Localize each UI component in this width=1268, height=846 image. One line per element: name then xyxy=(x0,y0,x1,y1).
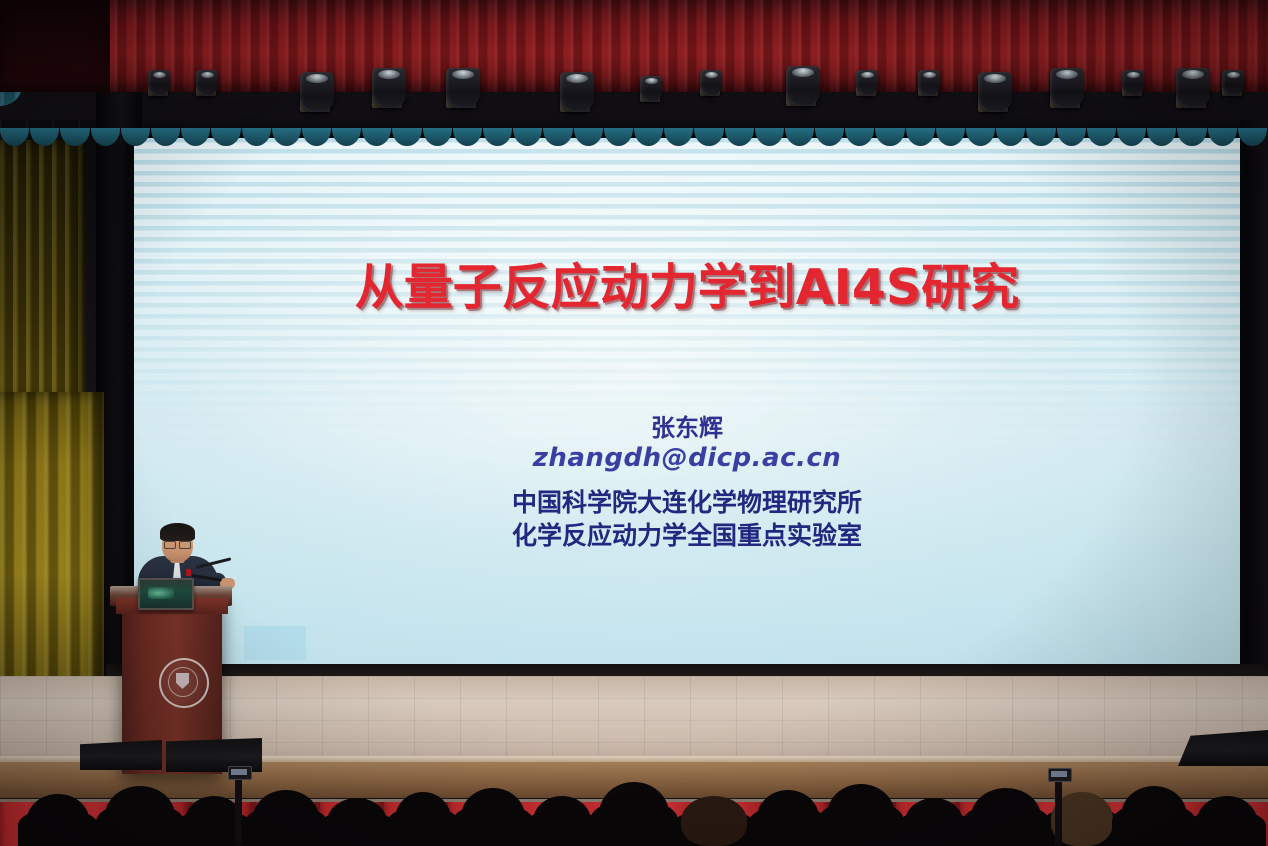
slide-organization-line-1: 中国科学院大连化学物理研究所 xyxy=(134,483,1240,519)
light-lens-icon xyxy=(861,72,874,78)
audience-area xyxy=(0,768,1268,846)
light-lens-icon xyxy=(566,74,588,83)
smartphone-recording xyxy=(1048,768,1072,782)
stage-light-fixture xyxy=(446,92,476,108)
glasses-icon xyxy=(163,540,192,548)
light-lens-icon xyxy=(1182,70,1204,79)
stage-light-fixture xyxy=(918,86,938,96)
audience-member-head xyxy=(971,788,1041,846)
light-head xyxy=(918,70,940,96)
audience-member-head xyxy=(599,782,669,846)
red-curtain-valance-left-shadow xyxy=(0,0,110,92)
university-seal-icon xyxy=(159,658,209,708)
light-lens-icon xyxy=(645,78,658,84)
light-lens-icon xyxy=(923,72,936,78)
light-lens-icon xyxy=(306,74,328,83)
slide-author-email: zhangdh@dicp.ac.cn xyxy=(134,443,1240,473)
stage-light-fixture xyxy=(978,96,1008,112)
stage-light-fixture xyxy=(1050,92,1080,108)
light-head xyxy=(856,70,878,96)
light-lens-icon xyxy=(984,74,1006,83)
presentation-slide: 从量子反应动力学到AI4S研究 张东辉 zhangdh@dicp.ac.cn 中… xyxy=(134,138,1240,668)
light-head xyxy=(1122,70,1144,96)
audience-member-head xyxy=(395,792,451,846)
audience-member-head xyxy=(757,790,819,846)
light-lens-icon xyxy=(1227,72,1240,78)
audience-member-head xyxy=(327,798,387,846)
auditorium-photo: 从量子反应动力学到AI4S研究 张东辉 zhangdh@dicp.ac.cn 中… xyxy=(0,0,1268,846)
light-head xyxy=(640,76,662,102)
stage-light-fixture xyxy=(786,90,816,106)
light-head xyxy=(1176,68,1210,108)
light-lens-icon xyxy=(153,72,166,78)
light-lens-icon xyxy=(705,72,718,78)
stage-light-fixture xyxy=(1122,86,1142,96)
audience-member-head xyxy=(905,798,963,846)
light-head xyxy=(1222,70,1244,96)
proscenium-column-right xyxy=(1240,120,1268,720)
light-head xyxy=(786,66,820,106)
audience-member-head xyxy=(681,796,747,846)
stage-light-fixture xyxy=(560,96,590,112)
projection-screen: 从量子反应动力学到AI4S研究 张东辉 zhangdh@dicp.ac.cn 中… xyxy=(134,138,1240,668)
stage-light-fixture xyxy=(856,86,876,96)
light-lens-icon xyxy=(792,68,814,77)
audience-member-head xyxy=(27,794,89,846)
audience-member-head xyxy=(533,796,591,846)
stage-light-fixture xyxy=(372,92,402,108)
light-head xyxy=(978,72,1012,112)
slide-title: 从量子反应动力学到AI4S研究 xyxy=(134,248,1240,319)
stage-light-fixture xyxy=(300,96,330,112)
light-head xyxy=(372,68,406,108)
light-lens-icon xyxy=(1127,72,1140,78)
raised-arm xyxy=(1055,778,1062,846)
stage-light-fixture xyxy=(1176,92,1206,108)
light-lens-icon xyxy=(1056,70,1078,79)
stage-light-fixture xyxy=(148,86,168,96)
valance-scallop xyxy=(91,128,120,146)
light-lens-icon xyxy=(201,72,214,78)
stage-monitor-speaker-left xyxy=(80,740,162,770)
audience-member-head xyxy=(105,786,175,846)
slide-author-name: 张东辉 xyxy=(134,408,1240,443)
light-head xyxy=(300,72,334,112)
light-head xyxy=(148,70,170,96)
audience-member-head xyxy=(1121,786,1187,846)
light-lens-icon xyxy=(378,70,400,79)
audience-member-head xyxy=(1197,796,1257,846)
light-head xyxy=(446,68,480,108)
valance-scallop xyxy=(0,128,29,146)
light-head xyxy=(700,70,722,96)
gold-side-curtain-upper xyxy=(0,140,86,402)
valance-scallop xyxy=(30,128,59,146)
light-head xyxy=(1050,68,1084,108)
presenter-hair xyxy=(160,523,195,541)
audience-member-head xyxy=(461,788,525,846)
stage-light-fixture xyxy=(196,86,216,96)
stage-light-fixture xyxy=(1222,86,1242,96)
presenter-laptop xyxy=(138,578,194,610)
light-head xyxy=(196,70,218,96)
smartphone-recording xyxy=(228,766,252,780)
slide-organization-line-2: 化学反应动力学全国重点实验室 xyxy=(134,516,1240,552)
valance-scallop xyxy=(1238,128,1267,146)
audience-member-head xyxy=(253,790,319,846)
valance-scallop xyxy=(60,128,89,146)
gold-side-curtain xyxy=(0,392,104,722)
raised-arm xyxy=(235,776,242,846)
stage-light-fixture xyxy=(700,86,720,96)
presenter-lapel-badge xyxy=(186,569,191,576)
audience-member-head xyxy=(827,784,895,846)
light-head xyxy=(560,72,594,112)
stage-light-fixture xyxy=(640,92,660,102)
light-lens-icon xyxy=(452,70,474,79)
